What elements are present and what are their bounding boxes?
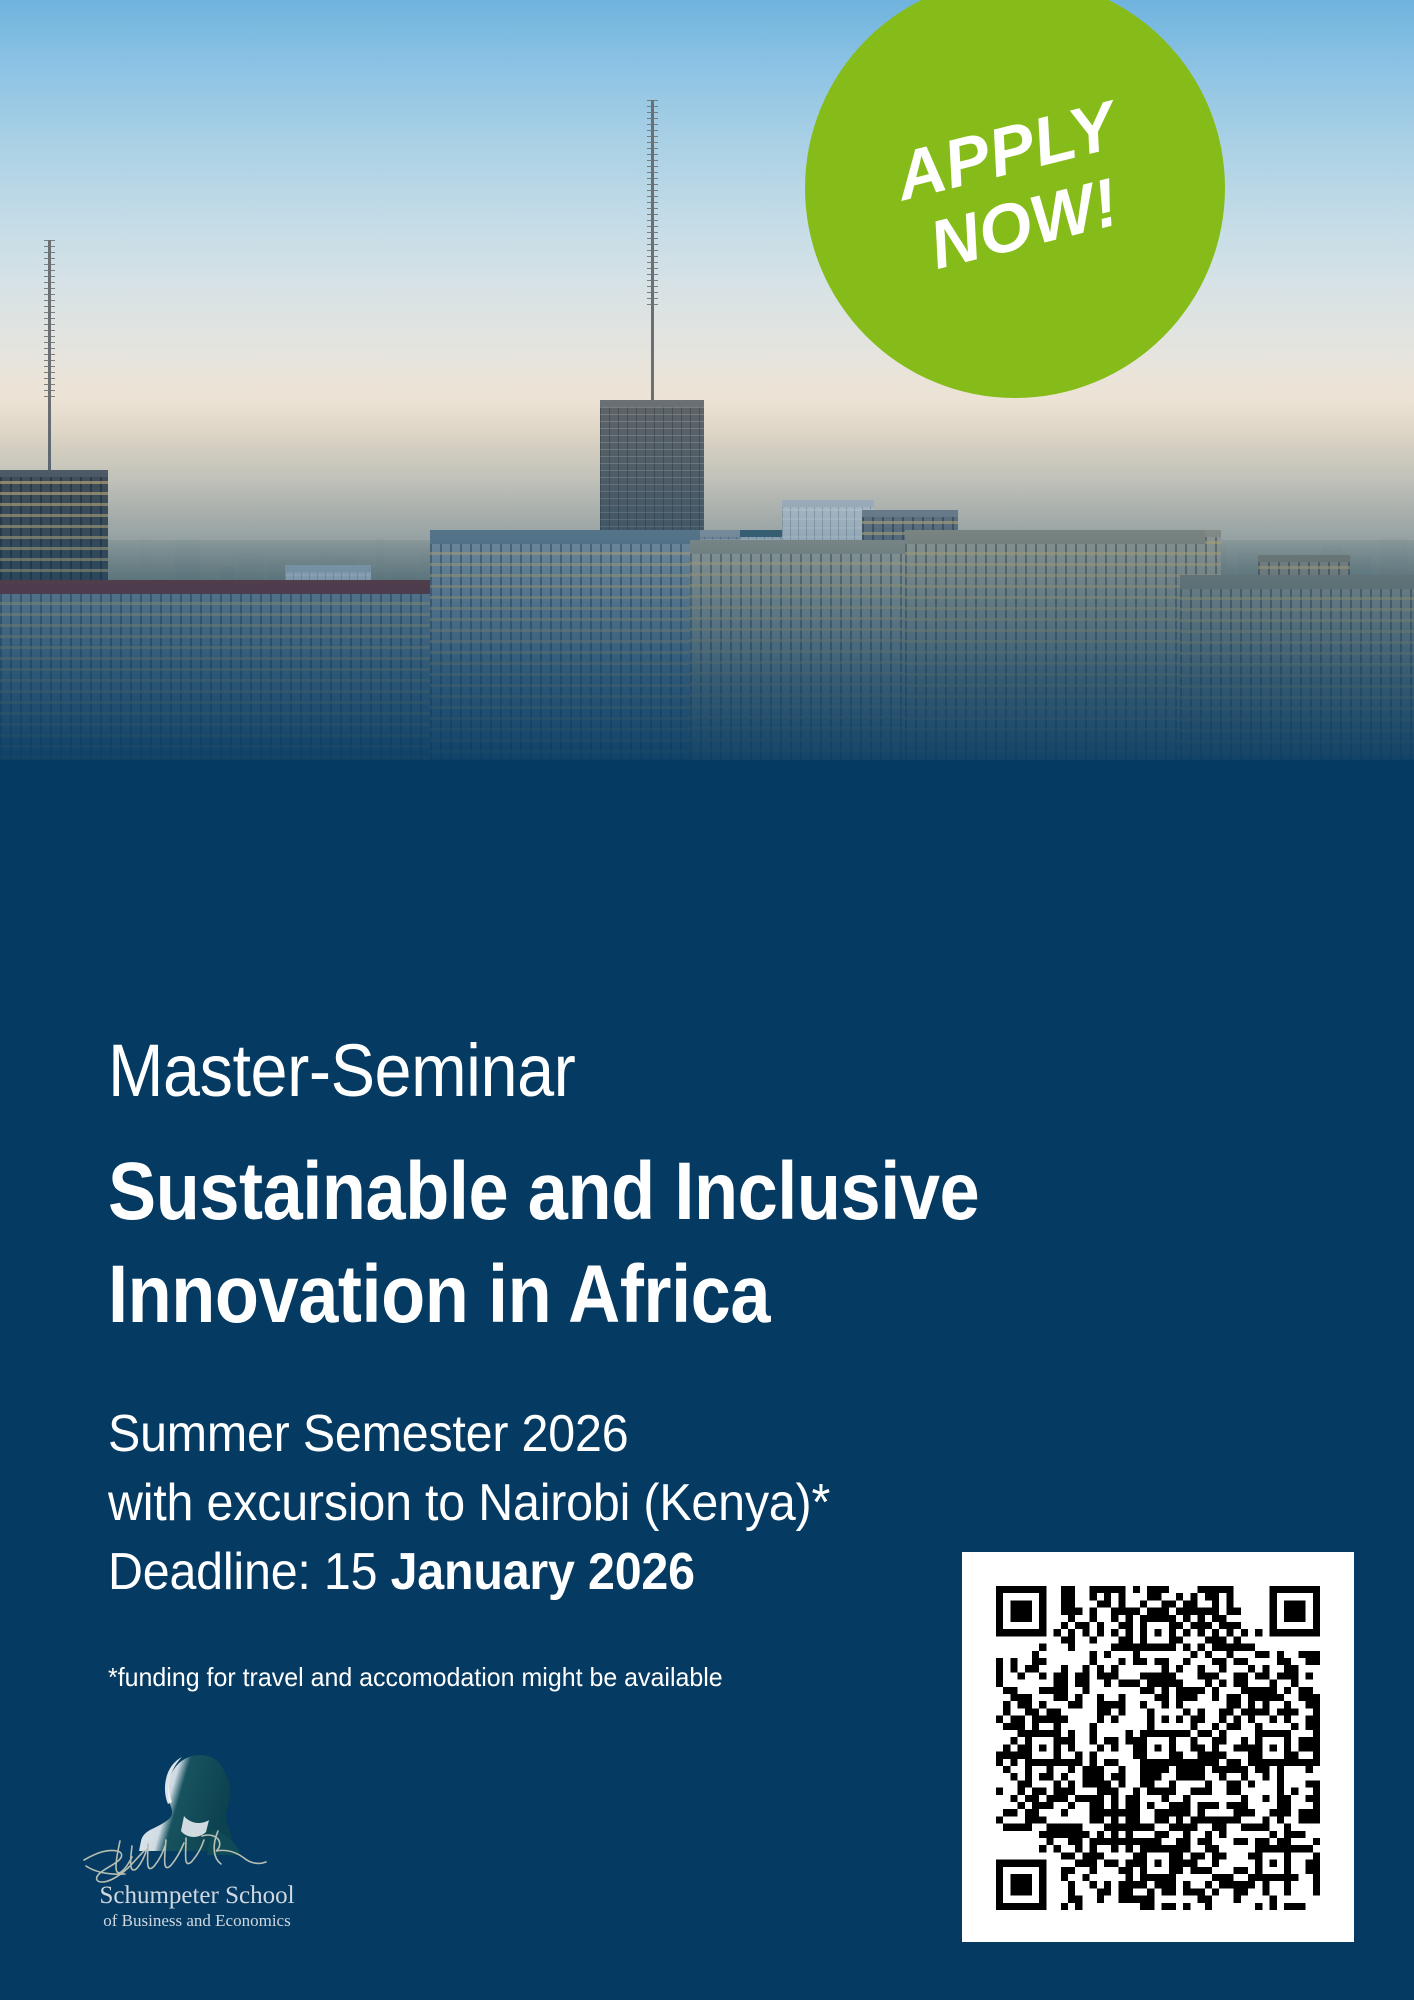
page-title: Sustainable and Inclusive Innovation in … bbox=[108, 1140, 979, 1347]
qr-code[interactable] bbox=[996, 1586, 1320, 1910]
detail-excursion: with excursion to Nairobi (Kenya)* bbox=[108, 1469, 830, 1538]
funding-footnote: *funding for travel and accomodation mig… bbox=[108, 1662, 723, 1693]
title-line-2: Innovation in Africa bbox=[108, 1243, 979, 1346]
detail-semester: Summer Semester 2026 bbox=[108, 1400, 830, 1469]
apply-now-badge-text: APPLY NOW! bbox=[889, 91, 1142, 286]
detail-deadline: Deadline: 15 January 2026 bbox=[108, 1538, 830, 1607]
qr-code-panel[interactable] bbox=[962, 1552, 1354, 1942]
title-line-1: Sustainable and Inclusive bbox=[108, 1140, 979, 1243]
poster: APPLY NOW! Master-Seminar Sustainable an… bbox=[0, 0, 1414, 2000]
seminar-kicker: Master-Seminar bbox=[108, 1028, 575, 1113]
details-block: Summer Semester 2026 with excursion to N… bbox=[108, 1400, 830, 1607]
deadline-prefix: Deadline: 15 bbox=[108, 1543, 391, 1601]
deadline-date: January 2026 bbox=[391, 1543, 695, 1601]
